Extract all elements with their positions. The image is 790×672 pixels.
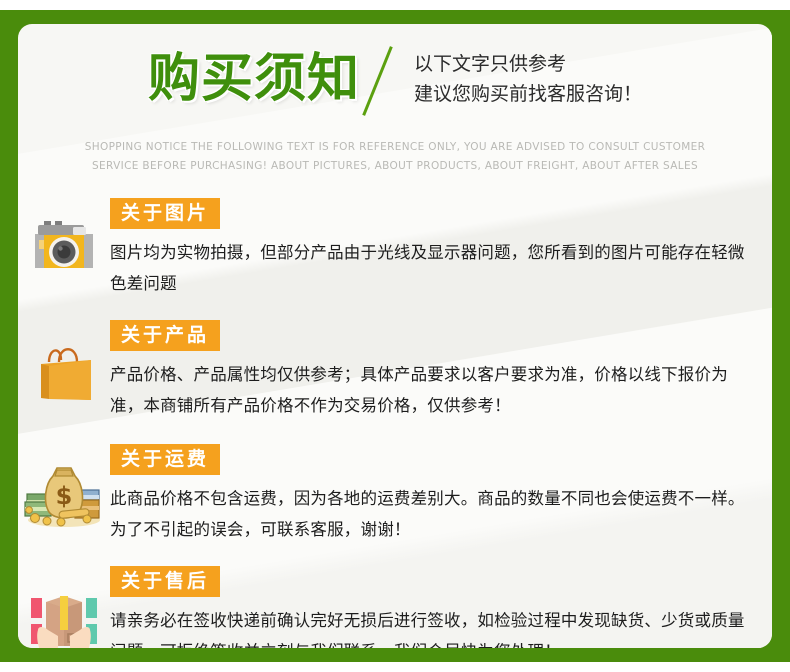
section-about-freight: $ 关于运费 此商品价格不包含运费，因为各地的运费差别大。商品的数量不同也会使运… — [18, 444, 772, 545]
headline-row: 购买须知 以下文字只供参考 建议您购买前找客服咨询！ — [18, 40, 772, 126]
section-text-freight: 此商品价格不包含运费，因为各地的运费差别大。商品的数量不同也会使运费不一样。为了… — [110, 483, 746, 545]
section-body-after-sales: 关于售后 请亲务必在签收快递前确认完好无损后进行签收，如检验过程中发现缺货、少货… — [110, 566, 772, 648]
headline-subtitle-block: 以下文字只供参考 建议您购买前找客服咨询！ — [412, 40, 642, 118]
section-about-pictures: 关于图片 图片均为实物拍摄，但部分产品由于光线及显示器问题，您所看到的图片可能存… — [18, 198, 772, 299]
status-badge-products: 关于产品 — [110, 320, 220, 351]
section-body-pictures: 关于图片 图片均为实物拍摄，但部分产品由于光线及显示器问题，您所看到的图片可能存… — [110, 198, 772, 299]
section-body-products: 关于产品 产品价格、产品属性均仅供参考；具体产品要求以客户要求为准，价格以线下报… — [110, 320, 772, 421]
notice-card: 购买须知 以下文字只供参考 建议您购买前找客服咨询！ SHOPPING NOTI… — [18, 24, 772, 648]
section-text-products: 产品价格、产品属性均仅供参考；具体产品要求以客户要求为准，价格以线下报价为准，本… — [110, 359, 746, 421]
camera-icon — [18, 198, 110, 278]
headline-subtitle-line-1: 以下文字只供参考 — [414, 49, 642, 79]
svg-text:$: $ — [56, 482, 73, 510]
notice-header: 购买须知 以下文字只供参考 建议您购买前找客服咨询！ SHOPPING NOTI… — [18, 40, 772, 190]
english-subtitle-block: SHOPPING NOTICE THE FOLLOWING TEXT IS FO… — [18, 138, 772, 176]
status-badge-pictures: 关于图片 — [110, 198, 220, 229]
headline-subtitle-line-2: 建议您购买前找客服咨询！ — [414, 79, 642, 109]
shopping-bag-icon — [18, 320, 110, 408]
section-about-products: 关于产品 产品价格、产品属性均仅供参考；具体产品要求以客户要求为准，价格以线下报… — [18, 320, 772, 421]
package-delivery-icon — [18, 566, 110, 648]
money-bag-icon: $ — [18, 444, 110, 530]
diagonal-slash-icon — [360, 40, 412, 118]
english-subtitle-line-2: SERVICE BEFORE PURCHASING! ABOUT PICTURE… — [18, 157, 772, 176]
section-body-freight: 关于运费 此商品价格不包含运费，因为各地的运费差别大。商品的数量不同也会使运费不… — [110, 444, 772, 545]
notice-outer-frame: 购买须知 以下文字只供参考 建议您购买前找客服咨询！ SHOPPING NOTI… — [0, 10, 790, 662]
status-badge-after-sales: 关于售后 — [110, 566, 220, 597]
english-subtitle-line-1: SHOPPING NOTICE THE FOLLOWING TEXT IS FO… — [18, 138, 772, 157]
section-text-pictures: 图片均为实物拍摄，但部分产品由于光线及显示器问题，您所看到的图片可能存在轻微色差… — [110, 237, 746, 299]
page-title: 购买须知 — [148, 40, 360, 118]
status-badge-freight: 关于运费 — [110, 444, 220, 475]
section-text-after-sales: 请亲务必在签收快递前确认完好无损后进行签收，如检验过程中发现缺货、少货或质量问题… — [110, 605, 746, 648]
section-about-after-sales: 关于售后 请亲务必在签收快递前确认完好无损后进行签收，如检验过程中发现缺货、少货… — [18, 566, 772, 648]
